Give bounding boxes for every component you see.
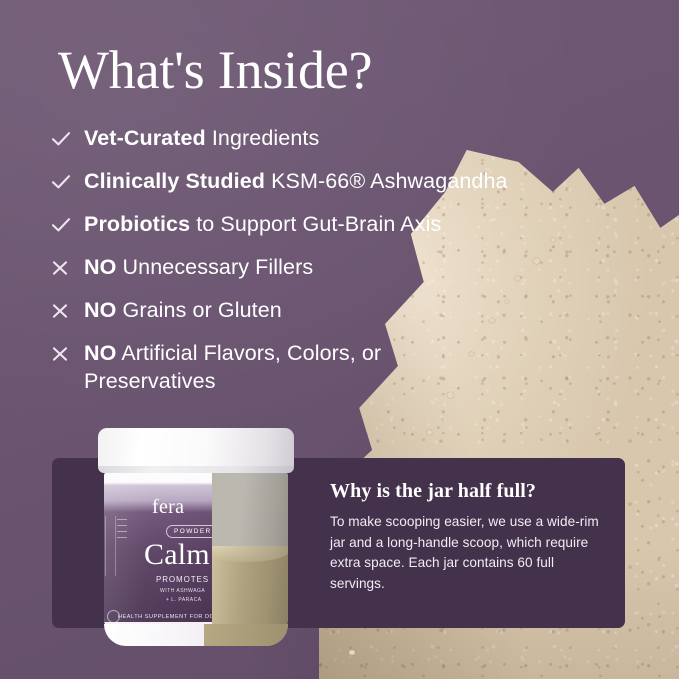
jar-base-cutaway — [204, 624, 288, 646]
check-icon — [50, 124, 84, 152]
jar-cutaway — [212, 472, 288, 640]
check-icon — [50, 167, 84, 195]
list-item-rest: KSM-66® Ashwagandha — [265, 169, 508, 193]
jar-label-side-strip — [105, 516, 116, 576]
product-sub-line-1: WITH ASHWAGA — [160, 588, 205, 594]
jar-base — [104, 624, 288, 646]
list-item-rest: Ingredients — [206, 126, 320, 150]
list-item-lead: Clinically Studied — [84, 169, 265, 193]
jar-lid-lip — [98, 466, 294, 473]
list-item-text: NO Unnecessary Fillers — [84, 253, 313, 282]
jar-label-top-band — [104, 472, 212, 482]
list-item-lead: Vet-Curated — [84, 126, 206, 150]
jar-body: fera POWDER Calm PROMOTES R WITH ASHWAGA… — [104, 472, 288, 640]
product-infographic: What's Inside? Vet-Curated Ingredients C… — [0, 0, 679, 679]
list-item-lead: NO — [84, 341, 116, 365]
list-item-text: Vet-Curated Ingredients — [84, 124, 319, 153]
list-item-rest: Unnecessary Fillers — [116, 255, 313, 279]
powder-crumb — [349, 650, 355, 655]
powder-crumb — [427, 430, 432, 435]
list-item-rest: Grains or Gluten — [116, 298, 281, 322]
list-item-text: NO Artificial Flavors, Colors, or Preser… — [84, 339, 464, 396]
product-jar: fera POWDER Calm PROMOTES R WITH ASHWAGA… — [96, 428, 296, 646]
check-icon — [50, 210, 84, 238]
list-item: Clinically Studied KSM-66® Ashwagandha — [50, 167, 660, 196]
list-item: NO Unnecessary Fillers — [50, 253, 660, 282]
page-title: What's Inside? — [58, 42, 372, 98]
list-item-text: Clinically Studied KSM-66® Ashwagandha — [84, 167, 508, 196]
feature-list: Vet-Curated Ingredients Clinically Studi… — [50, 124, 660, 410]
list-item-text: NO Grains or Gluten — [84, 296, 282, 325]
list-item: Probiotics to Support Gut-Brain Axis — [50, 210, 660, 239]
jar-empty-headspace — [212, 472, 288, 553]
list-item-lead: Probiotics — [84, 212, 190, 236]
list-item: NO Artificial Flavors, Colors, or Preser… — [50, 339, 660, 396]
brand-name: fera — [152, 496, 184, 519]
product-sub-line-2: + L. PARACA — [166, 597, 202, 603]
info-card-body: To make scooping easier, we use a wide-r… — [330, 512, 602, 595]
info-card-title: Why is the jar half full? — [330, 480, 602, 503]
jar-label-side-ticks — [117, 519, 127, 541]
jar-lid — [98, 428, 294, 470]
product-promo-line: PROMOTES R — [156, 575, 219, 584]
list-item-lead: NO — [84, 255, 116, 279]
jar-label: fera POWDER Calm PROMOTES R WITH ASHWAGA… — [104, 472, 212, 640]
list-item-lead: NO — [84, 298, 116, 322]
cross-icon — [50, 253, 84, 281]
cross-icon — [50, 339, 84, 367]
list-item: Vet-Curated Ingredients — [50, 124, 660, 153]
product-name: Calm — [144, 538, 210, 572]
info-card-text: Why is the jar half full? To make scoopi… — [330, 480, 602, 595]
cross-icon — [50, 296, 84, 324]
list-item: NO Grains or Gluten — [50, 296, 660, 325]
list-item-text: Probiotics to Support Gut-Brain Axis — [84, 210, 441, 239]
list-item-rest: Artificial Flavors, Colors, or Preservat… — [84, 341, 381, 393]
list-item-rest: to Support Gut-Brain Axis — [190, 212, 441, 236]
